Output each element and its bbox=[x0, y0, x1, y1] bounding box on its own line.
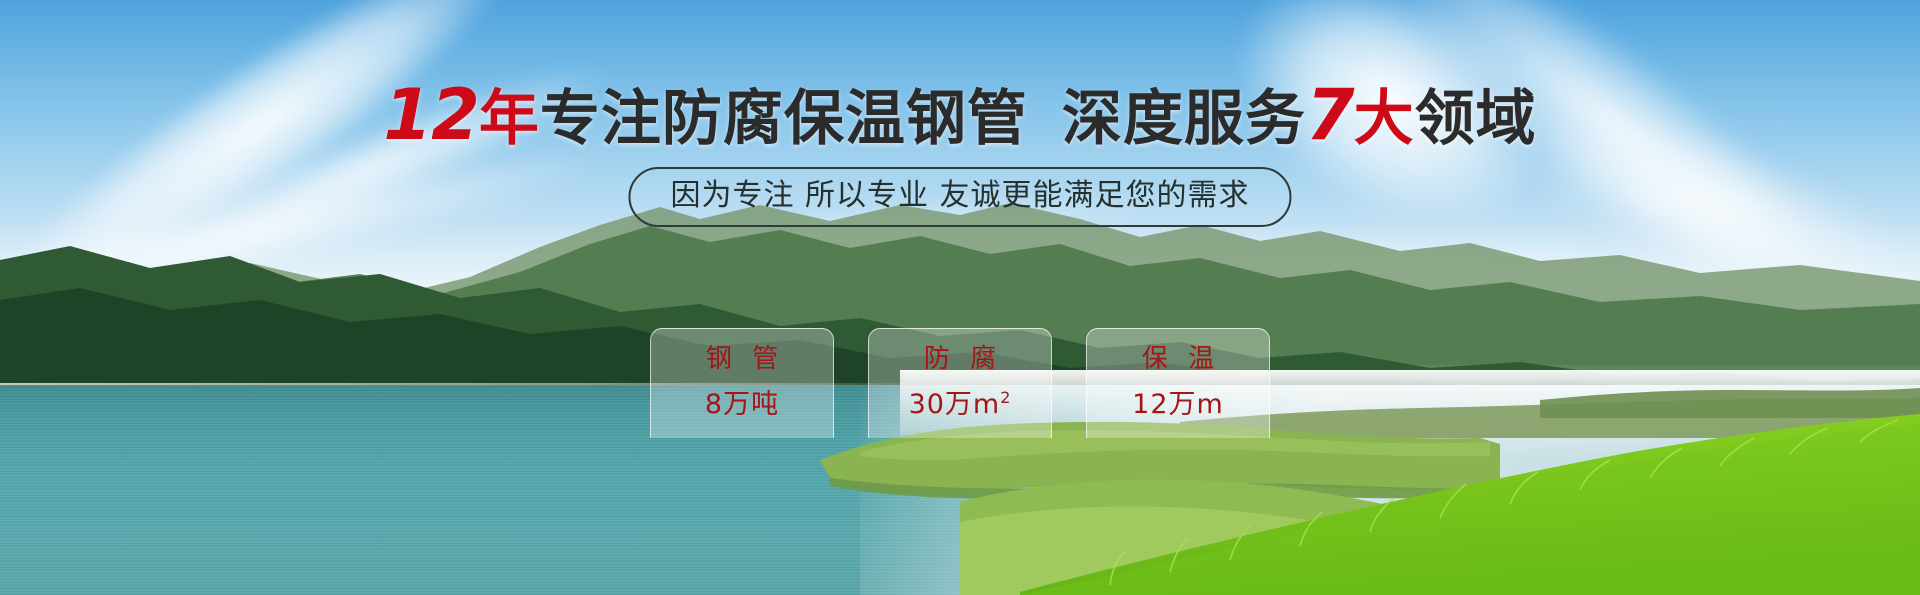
stat-title: 保 温 bbox=[1136, 343, 1220, 375]
headline-fields-number: 7 bbox=[1306, 74, 1354, 156]
headline-part-four: 领域 bbox=[1415, 84, 1537, 154]
stat-value: 8万吨 bbox=[705, 389, 779, 421]
headline-part-two: 深度服务 bbox=[1062, 84, 1306, 154]
stat-value-sup: 2 bbox=[1000, 388, 1011, 407]
promo-banner: 12年专注防腐保温钢管深度服务7大领域 因为专注 所以专业 友诚更能满足您的需求… bbox=[0, 0, 1920, 595]
headline-fields-unit: 大 bbox=[1354, 84, 1415, 154]
stat-card-group: 钢 管 8万吨 防 腐 30万m2 保 温 12万m bbox=[650, 328, 1270, 438]
stat-card-steel-pipe[interactable]: 钢 管 8万吨 bbox=[650, 328, 834, 438]
stat-value: 12万m bbox=[1132, 389, 1224, 421]
banner-subtitle-text: 因为专注 所以专业 友诚更能满足您的需求 bbox=[670, 178, 1249, 213]
headline-part-one: 专注防腐保温钢管 bbox=[540, 84, 1028, 154]
headline-years-unit: 年 bbox=[479, 84, 540, 154]
headline-years-number: 12 bbox=[383, 74, 478, 156]
stat-card-anticorrosion[interactable]: 防 腐 30万m2 bbox=[868, 328, 1052, 438]
stat-value-text: 30万m bbox=[909, 389, 1001, 420]
banner-headline: 12年专注防腐保温钢管深度服务7大领域 bbox=[0, 84, 1920, 150]
stat-card-insulation[interactable]: 保 温 12万m bbox=[1086, 328, 1270, 438]
stat-value-text: 8万吨 bbox=[705, 389, 779, 420]
banner-subtitle-pill: 因为专注 所以专业 友诚更能满足您的需求 bbox=[628, 167, 1291, 227]
stat-value: 30万m2 bbox=[909, 389, 1012, 421]
stat-title: 防 腐 bbox=[918, 343, 1002, 375]
stat-value-text: 12万m bbox=[1132, 389, 1224, 420]
stat-title: 钢 管 bbox=[700, 343, 784, 375]
